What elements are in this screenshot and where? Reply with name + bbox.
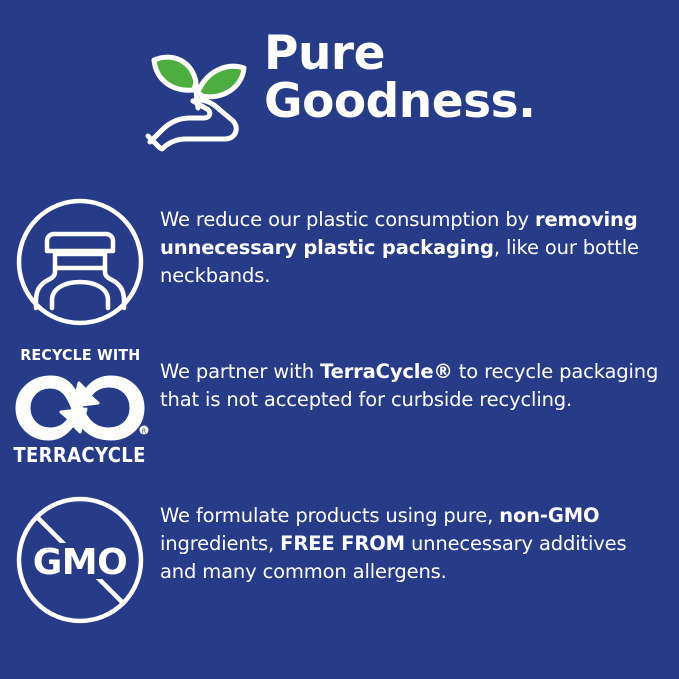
- feature-icon-wrapper: [0, 196, 160, 328]
- terracycle-bottom-label: TERRACYCLE: [14, 443, 146, 467]
- mobius-infinity-recycle-icon: R: [7, 366, 153, 440]
- body-text: We reduce our plastic consumption by: [160, 208, 535, 231]
- feature-row-terracycle: RECYCLE WITH R TERRACYCLE We partner wit…: [0, 346, 679, 467]
- bottle-neckband-icon: [14, 196, 146, 328]
- body-text: ingredients,: [160, 532, 280, 555]
- emphasis-text: TerraCycle®: [320, 360, 453, 383]
- feature-icon-wrapper: RECYCLE WITH R TERRACYCLE: [0, 346, 160, 467]
- feature-text-non-gmo: We formulate products using pure, non-GM…: [160, 494, 679, 586]
- no-gmo-label: GMO: [33, 542, 127, 583]
- promo-panel: PureGoodness. We reduce our plastic cons…: [0, 0, 679, 679]
- svg-text:R: R: [142, 428, 146, 435]
- feature-row-plastic-reduction: We reduce our plastic consumption by rem…: [0, 196, 679, 328]
- feature-icon-wrapper: GMO: [0, 494, 160, 626]
- no-gmo-icon: GMO: [14, 494, 146, 626]
- terracycle-logo: RECYCLE WITH R TERRACYCLE: [6, 346, 154, 467]
- emphasis-text: non-GMO: [499, 504, 599, 527]
- feature-text-terracycle: We partner with TerraCycle® to recycle p…: [160, 346, 679, 414]
- feature-row-non-gmo: GMO We formulate products using pure, no…: [0, 494, 679, 626]
- body-text: We formulate products using pure,: [160, 504, 499, 527]
- feature-text-plastic-reduction: We reduce our plastic consumption by rem…: [160, 196, 679, 290]
- emphasis-text: FREE FROM: [280, 532, 405, 555]
- brand-wordmark-line-1: Pure: [264, 26, 385, 81]
- page-title: PureGoodness.: [264, 30, 535, 127]
- brand-wordmark-line-2: Goodness.: [264, 74, 535, 129]
- brand-lockup: PureGoodness.: [146, 28, 646, 153]
- hand-holding-sprout-icon: [146, 38, 254, 150]
- body-text: We partner with: [160, 360, 320, 383]
- terracycle-top-label: RECYCLE WITH: [20, 346, 140, 364]
